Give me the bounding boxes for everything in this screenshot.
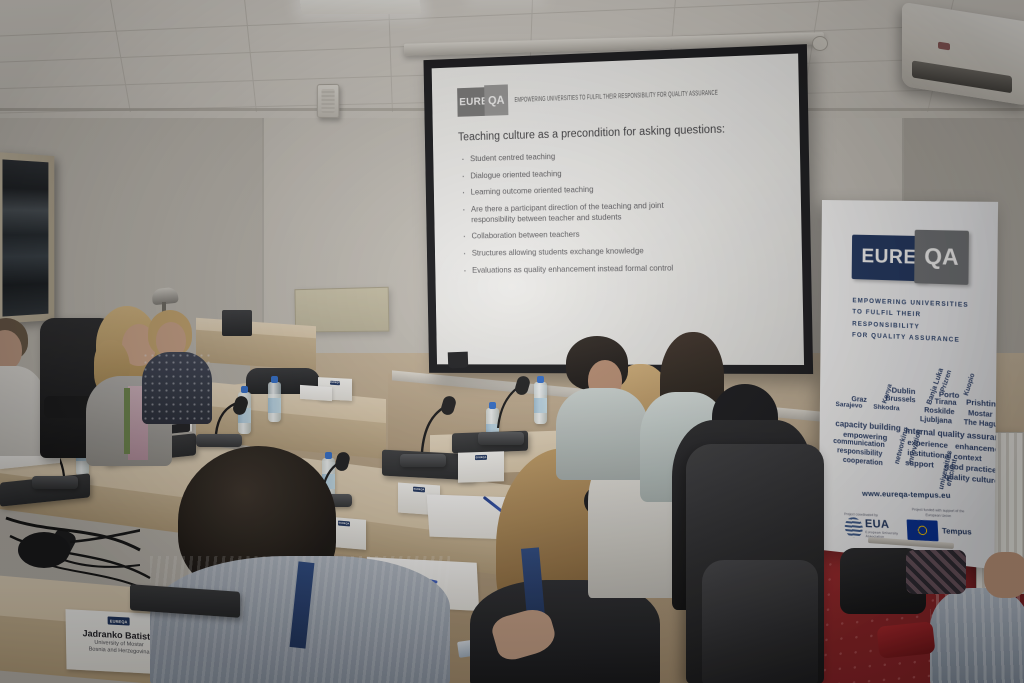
slide-bullet: Are there a participant direction of the…: [459, 197, 779, 225]
cloud-city: Shkodra: [873, 403, 899, 412]
red-item-on-floor: [876, 621, 935, 659]
cloud-city: Tirana: [935, 398, 957, 407]
slide-bullet: Collaboration between teachers: [460, 226, 780, 242]
rollup-banner: EURE QA EMPOWERING UNIVERSITIES TO FULFI…: [818, 200, 998, 569]
patterned-bag: [906, 550, 966, 594]
blouse-pattern: [142, 352, 212, 424]
bullet-text: Dialogue oriented teaching: [470, 168, 561, 180]
eua-block: Project coordinated by EUA European Univ…: [844, 512, 907, 540]
leather-chair-seat: [702, 560, 818, 683]
shirt-stripes: [930, 588, 1024, 683]
cloud-city: Roskilde: [924, 407, 954, 416]
banner-word-cloud: Graz Konya Dublin Brussels Sarajevo Shko…: [833, 359, 984, 491]
screen-surface: EURE QA EMPOWERING UNIVERSITIES TO FULFI…: [432, 53, 804, 365]
slide-header: EURE QA EMPOWERING UNIVERSITIES TO FULFI…: [457, 74, 777, 118]
cloud-city: Brussels: [885, 395, 915, 404]
cloud-keyword: cooperation: [843, 457, 883, 467]
cloud-city: Ljubljana: [920, 416, 952, 426]
cloud-keyword: support: [905, 458, 934, 470]
hand: [984, 552, 1024, 598]
name-card-logo: EUREQA: [338, 520, 350, 526]
banner-logo-qa: QA: [914, 230, 969, 285]
slide-bullet: Learning outcome oriented teaching: [459, 180, 779, 198]
projection-screen: EURE QA EMPOWERING UNIVERSITIES TO FULFI…: [423, 44, 813, 374]
bullet-text: Structures allowing students exchange kn…: [472, 246, 644, 258]
ceiling-light: [298, 0, 421, 14]
eua-label: EUA: [865, 517, 907, 531]
ac-vent: [912, 60, 1012, 93]
slide-logo-tagline: EMPOWERING UNIVERSITIES TO FULFIL THEIR …: [514, 89, 718, 104]
cloud-city: Kuopio: [963, 372, 977, 396]
cloud-city: Dublin: [892, 385, 916, 396]
eu-funding-block: Project funded with support of the Europ…: [906, 507, 972, 542]
lanyard: [124, 388, 130, 454]
name-card-logo: EUREQA: [413, 487, 425, 493]
cloud-city: Mostar: [968, 410, 993, 419]
tempus-label: Tempus: [942, 526, 972, 537]
water-bottle: [268, 382, 281, 422]
name-card-logo: EUREQA: [330, 381, 340, 386]
eua-mark-icon: [844, 516, 862, 537]
monitor: [222, 310, 252, 336]
cloud-city: Prishtina: [966, 397, 998, 409]
artwork-canvas: [2, 159, 48, 316]
wall-speaker-left: [317, 84, 340, 118]
screen-bottom-tab: [448, 352, 469, 369]
slide-title: Teaching culture as a precondition for a…: [458, 122, 778, 143]
framed-artwork: [0, 152, 54, 324]
name-card-logo: EUREQA: [108, 616, 130, 625]
funding-note: Project funded with support of the Europ…: [906, 507, 971, 519]
name-card-org: University of Mostar Bosnia and Herzegov…: [89, 640, 150, 657]
headphones: [18, 532, 70, 568]
ac-display: [938, 42, 950, 51]
banner-footer-logos: Project coordinated by EUA European Univ…: [832, 496, 983, 542]
bullet-text: Learning outcome oriented teaching: [471, 184, 594, 196]
logo-text-qa: QA: [484, 84, 508, 115]
slide-bullet: Student centred teaching: [458, 145, 778, 165]
paper-sheet: [300, 385, 332, 401]
banner-tagline: EMPOWERING UNIVERSITIES TO FULFIL THEIR …: [834, 294, 984, 348]
slide-bullet: Dialogue oriented teaching: [459, 162, 779, 181]
eureqa-logo-icon: EURE QA: [457, 84, 506, 118]
screen-mount-knob: [812, 36, 828, 51]
name-card: EUREQA: [458, 451, 504, 483]
bullet-text: Evaluations as quality enhancement inste…: [472, 262, 673, 274]
eu-flag-icon: [906, 519, 938, 541]
slide-bullet: Evaluations as quality enhancement inste…: [460, 261, 780, 275]
name-card-logo: EUREQA: [475, 455, 487, 460]
eua-logo: EUA European University Association: [844, 516, 907, 539]
presentation-slide: EURE QA EMPOWERING UNIVERSITIES TO FULFI…: [432, 53, 804, 365]
slide-bullet-list: Student centred teaching Dialogue orient…: [458, 145, 780, 276]
cloud-city: Sarajevo: [836, 401, 863, 410]
cloud-city: The Hague: [964, 419, 998, 429]
bullet-text: Collaboration between teachers: [471, 229, 579, 240]
bullet-text: Student centred teaching: [470, 151, 555, 163]
conference-room-photo: EURE QA EMPOWERING UNIVERSITIES TO FULFI…: [0, 0, 1024, 683]
banner-eureqa-logo-icon: EURE QA: [852, 229, 967, 287]
slide-bullet: Structures allowing students exchange kn…: [460, 244, 780, 259]
